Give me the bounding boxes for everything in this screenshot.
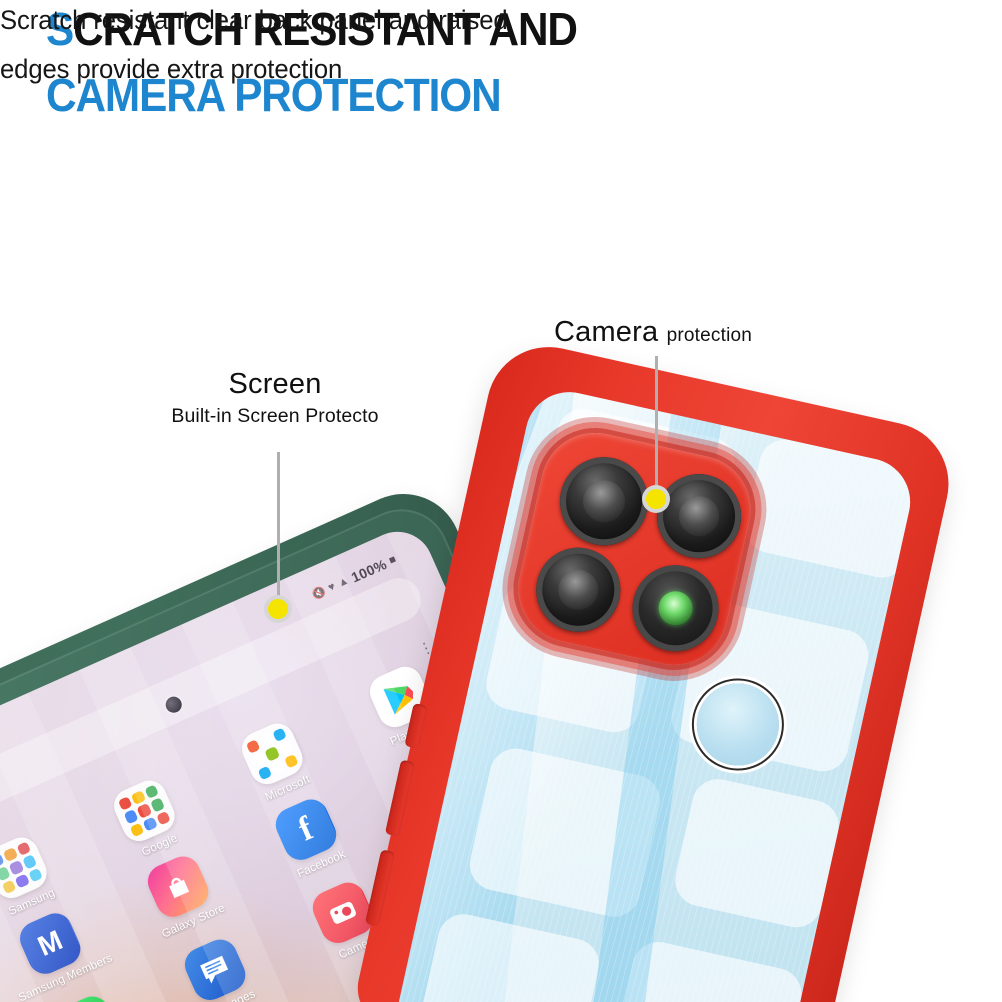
callout-camera-leader-line: [655, 356, 658, 490]
subcopy-line-2: edges provide extra protection: [0, 49, 952, 90]
camera-lens-2: [649, 466, 749, 566]
callout-screen-subtitle: Built-in Screen Protecto: [120, 405, 430, 428]
camera-lens-1: [552, 449, 657, 554]
callout-camera-title: Camera protection: [488, 316, 818, 349]
callout-screen: Screen Built-in Screen Protecto: [120, 368, 430, 428]
callout-screen-marker-dot: [264, 595, 292, 623]
callout-camera-marker-dot: [642, 485, 670, 513]
volume-mute-icon: 🔇: [310, 584, 328, 601]
heart-icon: ♥: [326, 580, 337, 594]
camera-lens-3: [528, 540, 628, 640]
camera-flash-icon: [624, 557, 727, 660]
callout-screen-title: Screen: [120, 368, 430, 401]
signal-icon: ▲: [336, 574, 351, 589]
messages-icon[interactable]: [179, 934, 250, 1002]
callout-camera-title-main: Camera: [554, 316, 658, 348]
battery-icon: ■: [387, 553, 398, 567]
promo-graphic: SCRATCH RESISTANT AND CAMERA PROTECTION …: [0, 0, 1002, 1002]
callout-screen-leader-line: [277, 452, 280, 602]
callout-camera-title-small: protection: [667, 325, 752, 346]
subcopy-line-1: Scratch resistant clear back panel and r…: [0, 0, 952, 41]
callout-camera: Camera protection: [488, 316, 818, 349]
